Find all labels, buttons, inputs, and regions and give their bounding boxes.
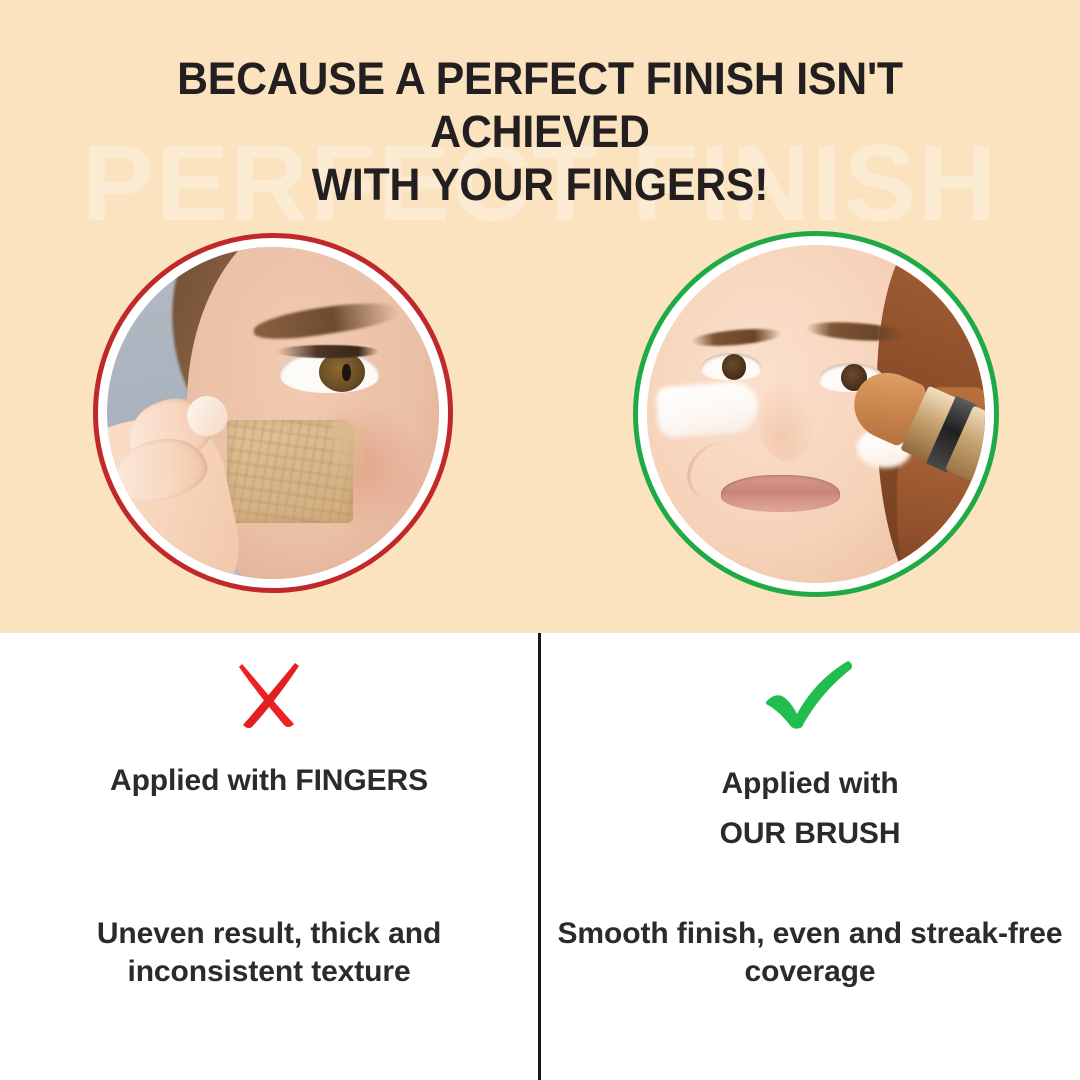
nose-shape [759, 380, 816, 461]
comparison-lead-brush: Applied with OUR BRUSH [560, 759, 1060, 860]
comparison-lead-fingers: Applied with FINGERS [19, 759, 519, 803]
comparison-detail-fingers: Uneven result, thick and inconsistent te… [19, 915, 519, 991]
comparison-column-fingers: Applied with FINGERS Uneven result, thic… [0, 633, 538, 1080]
comparison-detail-brush: Smooth finish, even and streak-free cove… [553, 915, 1068, 991]
check-mark-icon [762, 658, 858, 730]
photo-fingers [93, 233, 453, 593]
page-title: BECAUSE A PERFECT FINISH ISN'T ACHIEVED … [75, 52, 1006, 211]
comparison-column-brush: Applied with OUR BRUSH Smooth finish, ev… [541, 633, 1079, 1080]
eye-shape [701, 353, 762, 380]
photo-brush-image [647, 245, 985, 583]
hero-panel: PERFECT FINISH BECAUSE A PERFECT FINISH … [0, 0, 1080, 633]
comparison-infographic: PERFECT FINISH BECAUSE A PERFECT FINISH … [0, 0, 1080, 1080]
foundation-streak [655, 380, 760, 438]
lips-shape [721, 475, 839, 512]
cross-mark-icon [234, 658, 304, 730]
iris-shape [722, 354, 746, 379]
comparison-panel: Applied with FINGERS Uneven result, thic… [0, 633, 1080, 1080]
photo-fingers-image [107, 247, 439, 579]
iris-shape [319, 352, 365, 392]
pupil-shape [342, 364, 350, 381]
photo-brush [633, 231, 999, 597]
